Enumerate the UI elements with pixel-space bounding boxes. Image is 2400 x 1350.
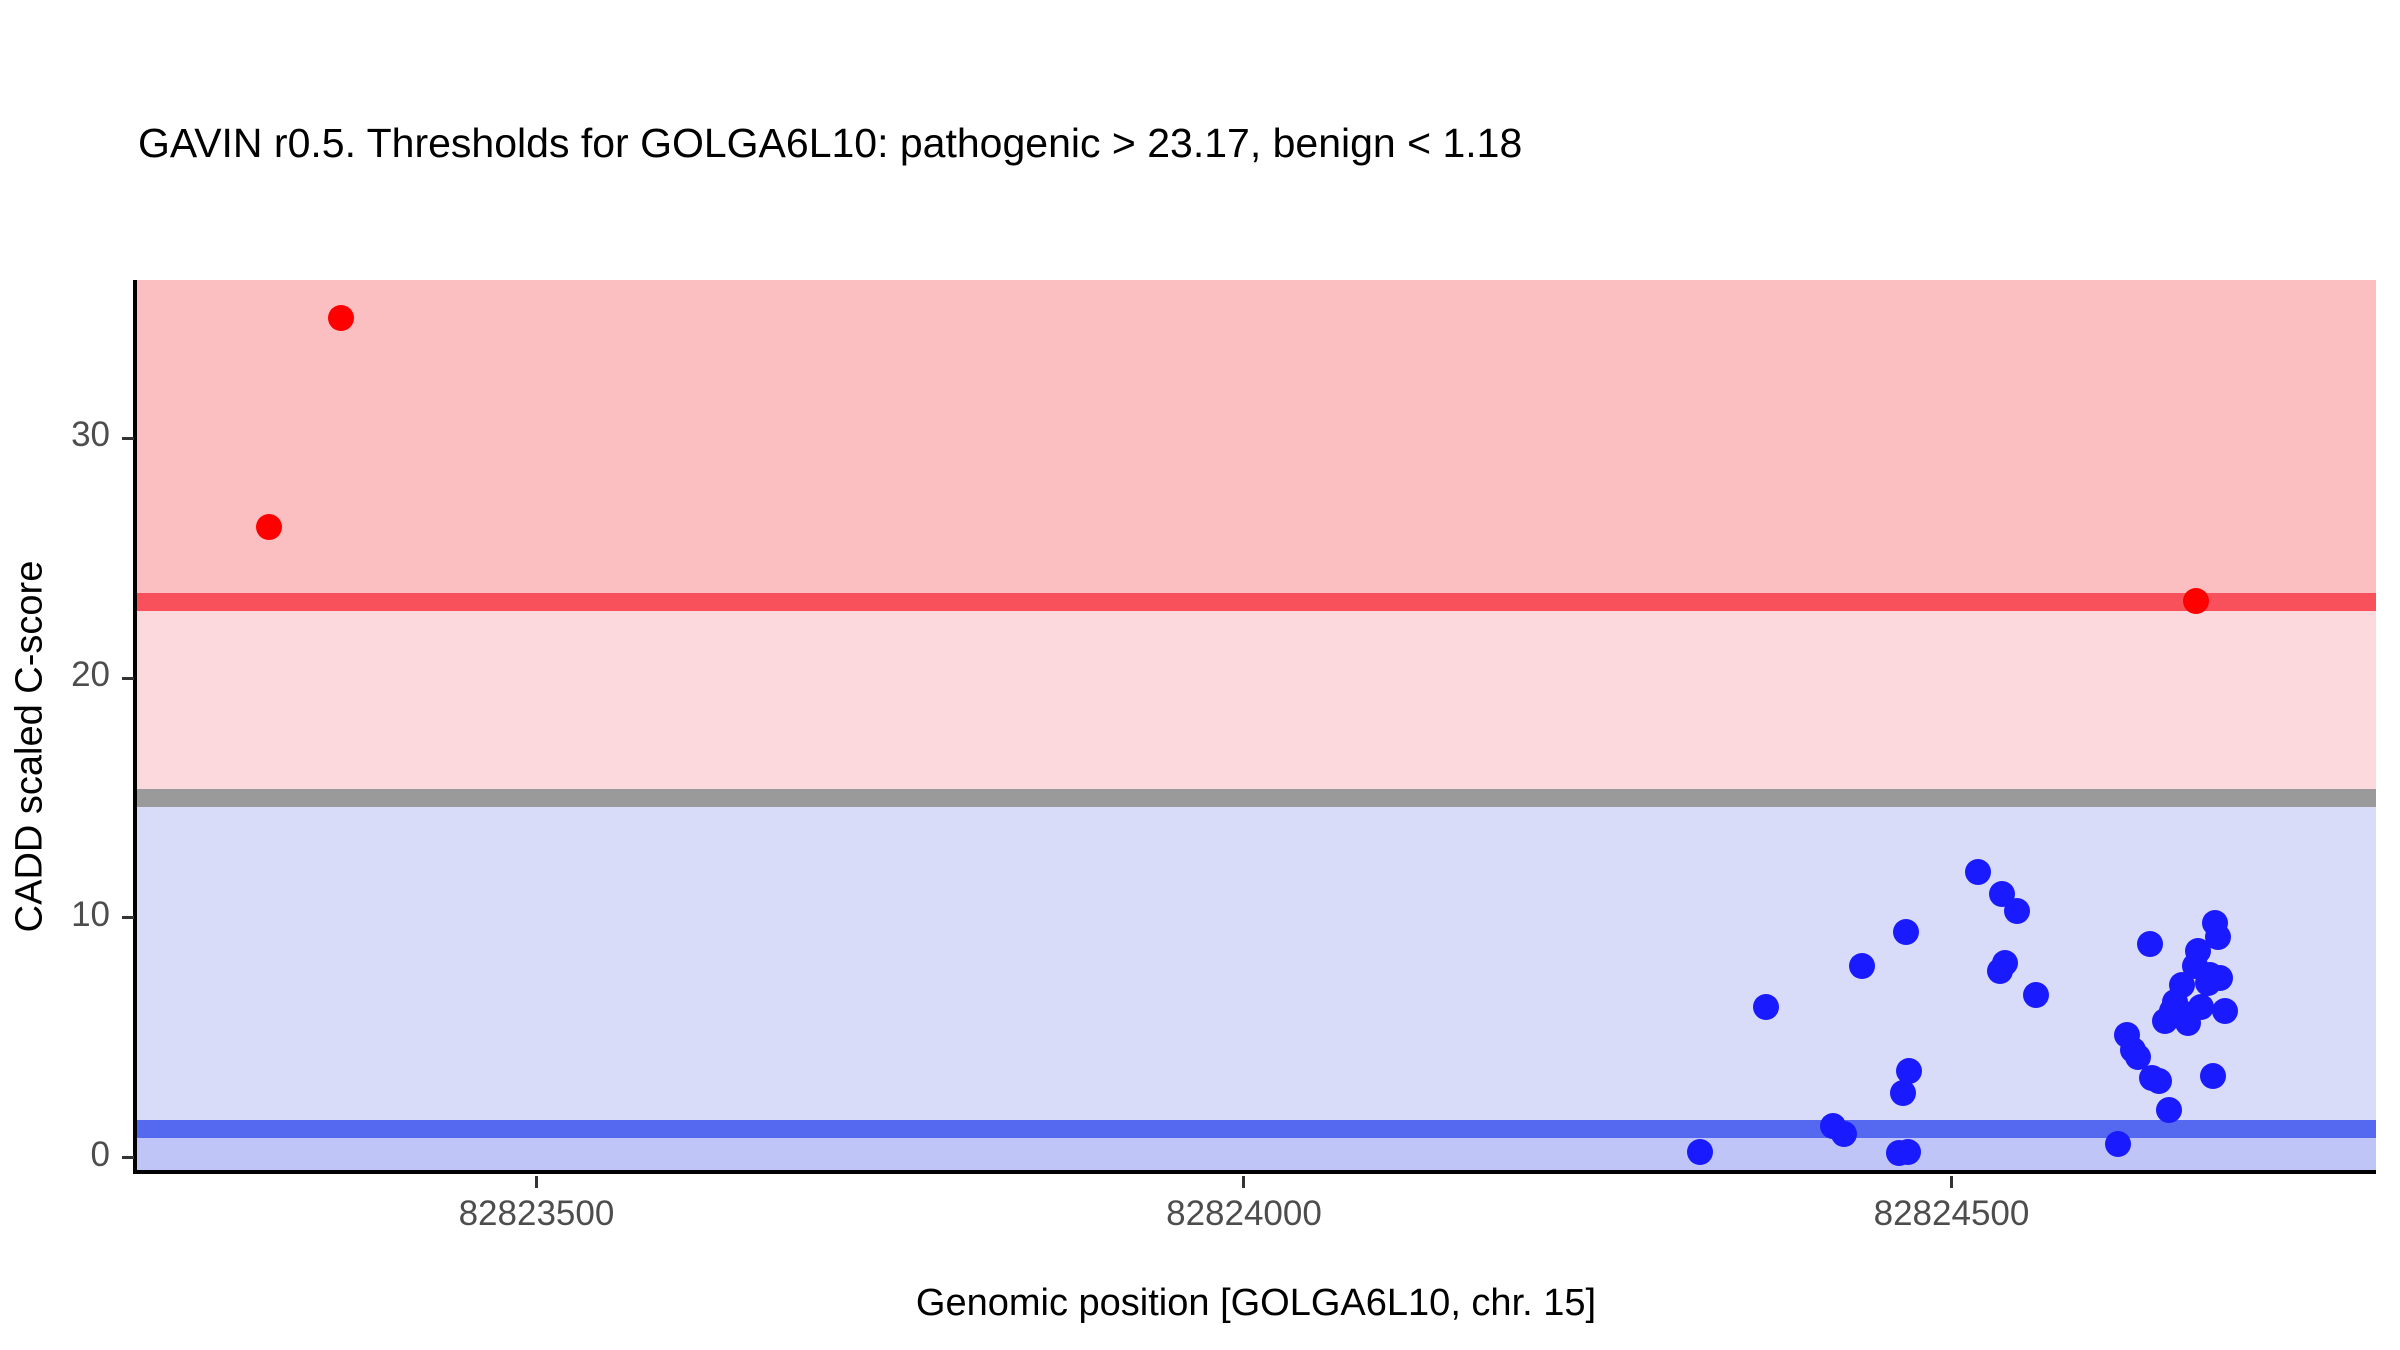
band-pathogenic-upper xyxy=(136,280,2376,602)
benign-point[interactable] xyxy=(1849,953,1875,979)
pathogenic-threshold-line xyxy=(136,593,2376,611)
band-benign-upper xyxy=(136,798,2376,1129)
x-tick-label: 82824500 xyxy=(1874,1194,2030,1234)
benign-point[interactable] xyxy=(1753,994,1779,1020)
y-tick-label: 10 xyxy=(0,895,110,935)
y-tick-label: 30 xyxy=(0,415,110,455)
benign-point[interactable] xyxy=(2188,994,2214,1020)
y-axis-line xyxy=(133,280,137,1174)
y-axis-title-text: CADD scaled C-score xyxy=(9,560,52,932)
benign-point[interactable] xyxy=(2023,982,2049,1008)
y-tick-mark xyxy=(122,677,134,680)
y-tick-label: 0 xyxy=(0,1135,110,1175)
benign-point[interactable] xyxy=(2207,965,2233,991)
pathogenic-point[interactable] xyxy=(256,514,282,540)
y-tick-mark xyxy=(122,916,134,919)
benign-point[interactable] xyxy=(2004,898,2030,924)
y-tick-mark xyxy=(122,437,134,440)
fallback-threshold-line xyxy=(136,789,2376,807)
benign-point[interactable] xyxy=(1687,1139,1713,1165)
y-tick-label: 20 xyxy=(0,655,110,695)
y-tick-mark xyxy=(122,1156,134,1159)
x-axis-line xyxy=(133,1170,2376,1174)
benign-threshold-line xyxy=(136,1120,2376,1138)
band-pathogenic-lower xyxy=(136,602,2376,798)
x-tick-mark xyxy=(1242,1176,1245,1188)
x-axis-title-text: Genomic position [GOLGA6L10, chr. 15] xyxy=(916,1282,1596,1324)
benign-point[interactable] xyxy=(1831,1121,1857,1147)
benign-point[interactable] xyxy=(2212,998,2238,1024)
benign-point[interactable] xyxy=(1895,1139,1921,1165)
cadd-scatter-plot: GAVIN r0.5. Thresholds for GOLGA6L10: pa… xyxy=(0,0,2400,1350)
benign-point[interactable] xyxy=(2137,931,2163,957)
x-tick-label: 82824000 xyxy=(1166,1194,1322,1234)
x-tick-mark xyxy=(535,1176,538,1188)
benign-point[interactable] xyxy=(2156,1097,2182,1123)
x-axis-title: Genomic position [GOLGA6L10, chr. 15] xyxy=(136,1282,2376,1325)
x-tick-label: 82823500 xyxy=(459,1194,615,1234)
plot-panel xyxy=(136,280,2376,1172)
benign-point[interactable] xyxy=(2205,924,2231,950)
x-tick-mark xyxy=(1950,1176,1953,1188)
title-line-1: GAVIN r0.5. Thresholds for GOLGA6L10: pa… xyxy=(138,116,2338,170)
